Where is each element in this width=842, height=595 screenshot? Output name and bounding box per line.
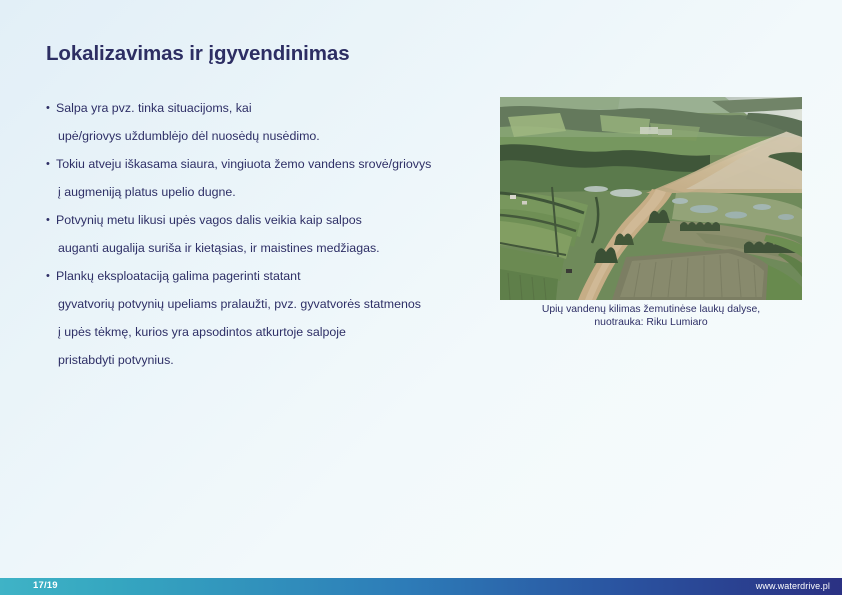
list-item-text: Plankų eksploataciją galima pagerinti st… — [56, 262, 301, 290]
list-item-text: upė/griovys uždumblėjo dėl nuosėdų nusėd… — [56, 122, 320, 150]
bullet-icon: • — [46, 94, 56, 122]
list-item: upė/griovys uždumblėjo dėl nuosėdų nusėd… — [46, 122, 491, 150]
list-item: • Tokiu atveju iškasama siaura, vingiuot… — [46, 150, 491, 178]
photo-caption-line-2: nuotrauka: Riku Lumiaro — [500, 316, 802, 329]
list-item: auganti augalija suriša ir kietąsias, ir… — [46, 234, 491, 262]
bullet-icon: • — [46, 262, 56, 290]
list-item-text: auganti augalija suriša ir kietąsias, ir… — [56, 234, 380, 262]
list-item: • Salpa yra pvz. tinka situacijoms, kai — [46, 94, 491, 122]
list-item-text: Salpa yra pvz. tinka situacijoms, kai — [56, 94, 252, 122]
slide-canvas: Lokalizavimas ir įgyvendinimas • Salpa y… — [0, 0, 842, 595]
list-item-text: Tokiu atveju iškasama siaura, vingiuota … — [56, 150, 431, 178]
aerial-photo — [500, 97, 802, 300]
bullet-icon: • — [46, 150, 56, 178]
page-title: Lokalizavimas ir įgyvendinimas — [46, 42, 350, 66]
bullet-icon: • — [46, 206, 56, 234]
photo-caption: Upių vandenų kilimas žemutinėse laukų da… — [500, 303, 802, 329]
list-item: • Plankų eksploataciją galima pagerinti … — [46, 262, 491, 290]
list-item-text: į upės tėkmę, kurios yra apsodintos atku… — [56, 318, 346, 346]
slide-number: 17/19 — [33, 580, 58, 591]
photo-caption-line-1: Upių vandenų kilimas žemutinėse laukų da… — [500, 303, 802, 316]
list-item-text: gyvatvorių potvynių upeliams pralaužti, … — [56, 290, 421, 318]
list-item: pristabdyti potvynius. — [46, 346, 491, 374]
bullet-list: • Salpa yra pvz. tinka situacijoms, kai … — [46, 94, 491, 374]
footer-bar: 17/19 www.waterdrive.pl — [0, 578, 842, 595]
list-item-text: pristabdyti potvynius. — [56, 346, 174, 374]
list-item: į augmeniją platus upelio dugne. — [46, 178, 491, 206]
list-item-text: Potvynių metu likusi upės vagos dalis ve… — [56, 206, 362, 234]
aerial-photo-image — [500, 97, 802, 300]
list-item-text: į augmeniją platus upelio dugne. — [56, 178, 236, 206]
list-item: į upės tėkmę, kurios yra apsodintos atku… — [46, 318, 491, 346]
list-item: gyvatvorių potvynių upeliams pralaužti, … — [46, 290, 491, 318]
list-item: • Potvynių metu likusi upės vagos dalis … — [46, 206, 491, 234]
footer-url[interactable]: www.waterdrive.pl — [756, 581, 830, 591]
